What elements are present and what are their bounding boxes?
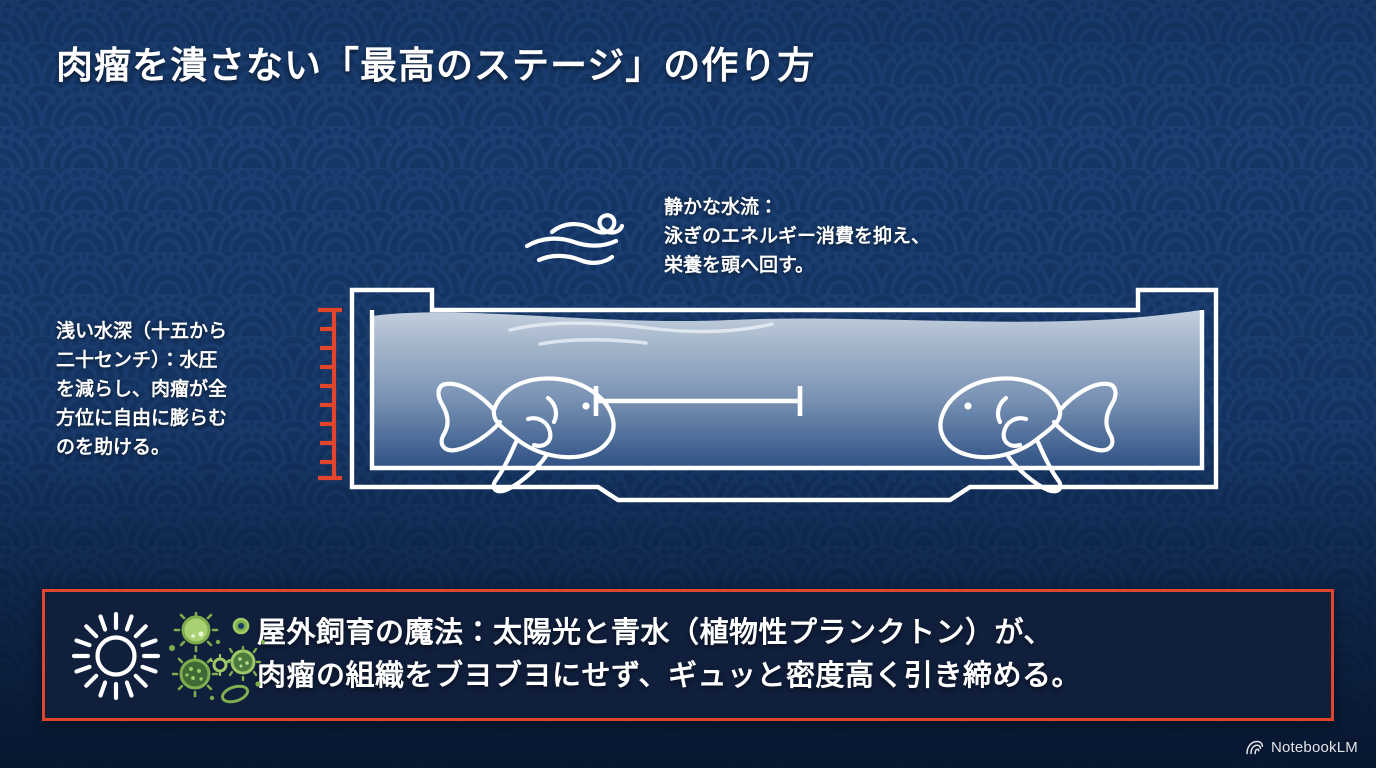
notebooklm-watermark: NotebookLM (1245, 739, 1358, 756)
tank-water (372, 310, 1202, 468)
slide-root: 肉瘤を潰さない「最高のステージ」の作り方 静かな水流： 泳ぎのエネルギー消費を抑… (0, 0, 1376, 768)
page-title: 肉瘤を潰さない「最高のステージ」の作り方 (56, 35, 815, 89)
callout-text: 屋外飼育の魔法：太陽光と青水（植物性プランクトン）が、 肉瘤の組織をブヨブヨにせ… (257, 612, 1331, 698)
vertical-ruler-icon (308, 306, 344, 482)
annotation-flow-text: 静かな水流： 泳ぎのエネルギー消費を抑え、 栄養を頭へ回す。 (664, 194, 930, 281)
plankton-algae-icon (163, 606, 267, 706)
notebooklm-logo-icon (1245, 739, 1264, 756)
water-current-icon (508, 210, 630, 272)
sun-icon (69, 609, 163, 703)
notebooklm-label: NotebookLM (1271, 739, 1358, 756)
callout-icon-group (45, 592, 257, 718)
aquarium-tank-illustration (300, 282, 1260, 507)
callout-box: 屋外飼育の魔法：太陽光と青水（植物性プランクトン）が、 肉瘤の組織をブヨブヨにせ… (42, 589, 1334, 721)
annotation-depth-text: 浅い水深（十五から 二十センチ）：水圧 を減らし、肉瘤が全 方位に自由に膨らむ … (56, 318, 306, 462)
